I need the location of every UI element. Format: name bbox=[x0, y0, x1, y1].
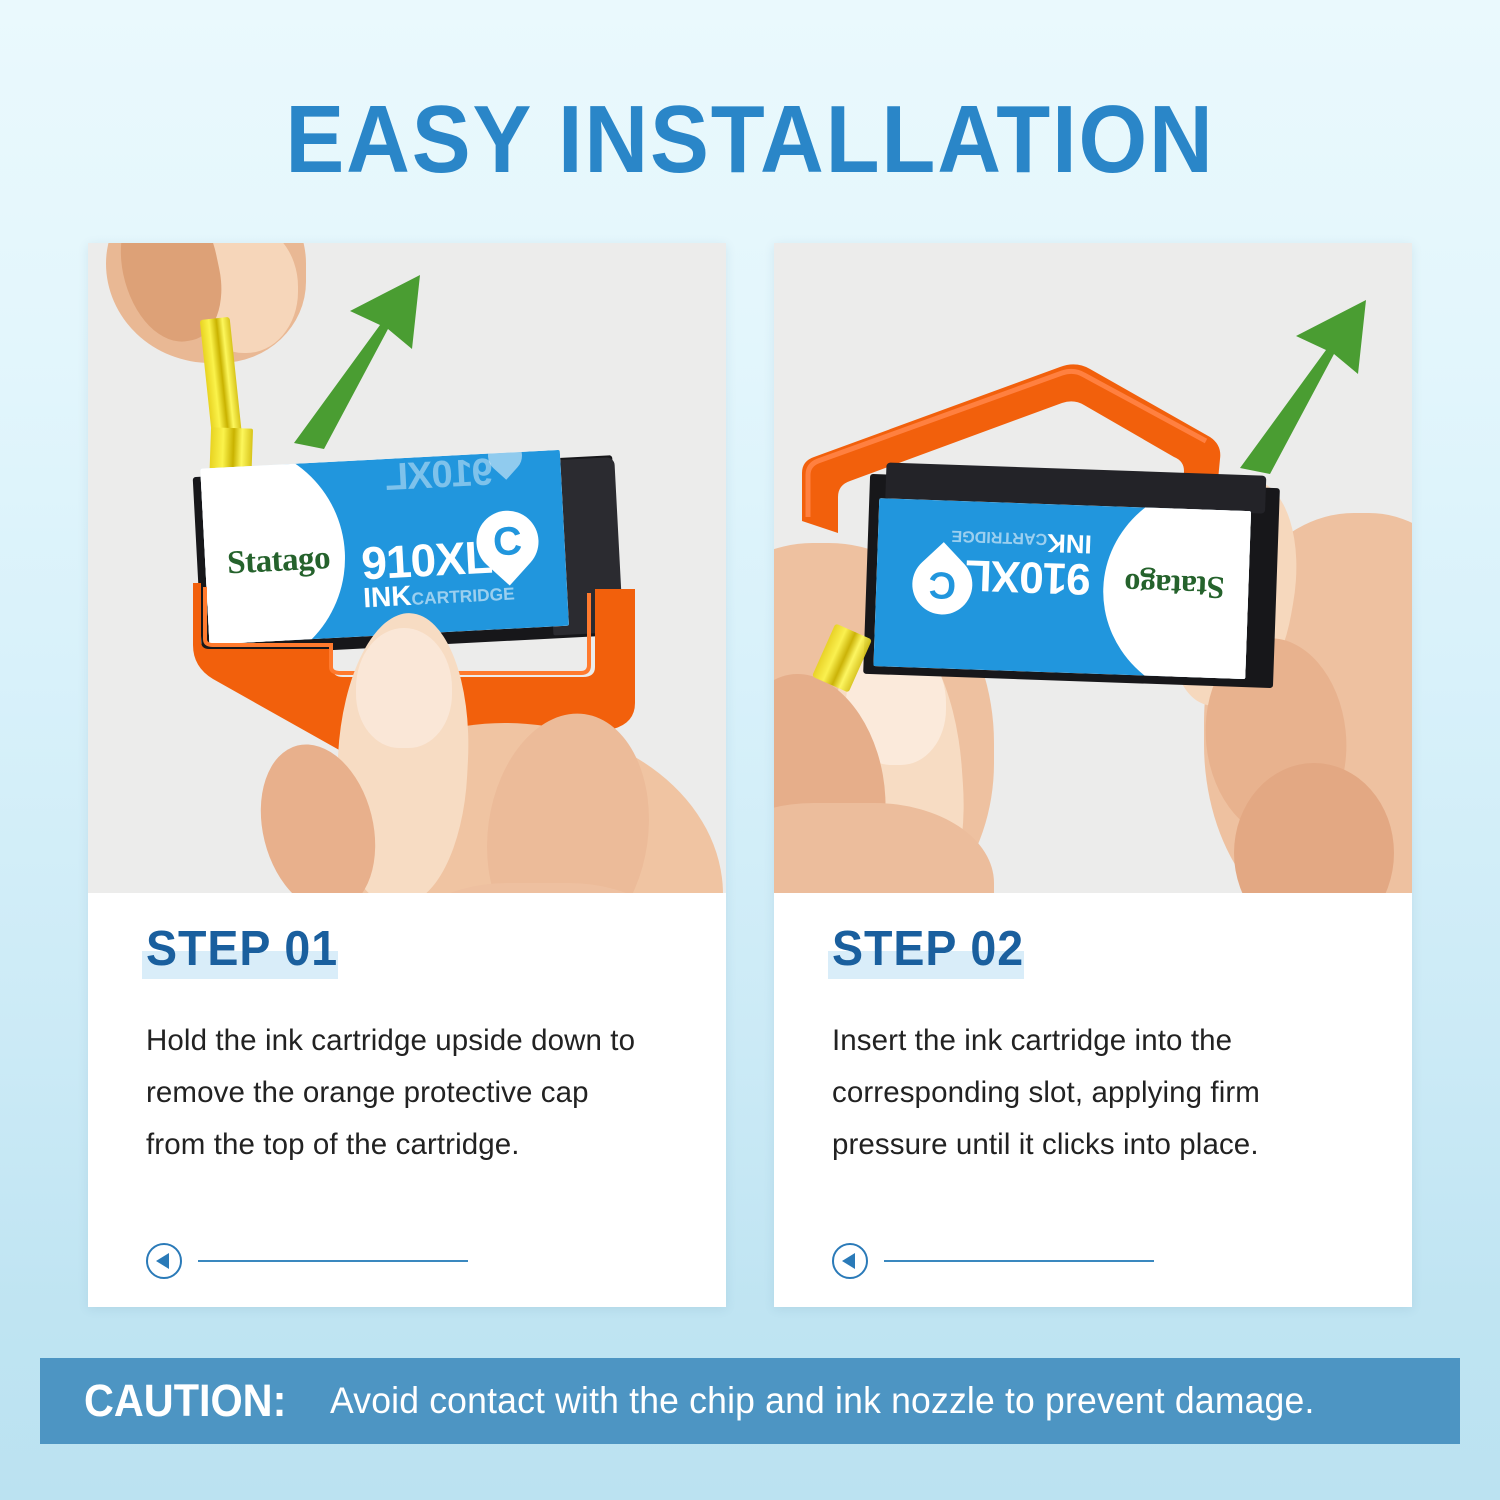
cartridge-ink-text: INK bbox=[1047, 528, 1093, 560]
caution-label: CAUTION: bbox=[84, 1375, 286, 1427]
steps-container: 910XL Statago 910XL INKCARTRIDGE C bbox=[88, 243, 1412, 1307]
ink-cartridge: Statago 910XL INKCARTRIDGE C bbox=[858, 474, 1286, 719]
step-label-wrap-02: STEP 02 bbox=[832, 925, 1034, 974]
step-photo-02: Statago 910XL INKCARTRIDGE C bbox=[774, 243, 1412, 893]
arrow-up-right-icon bbox=[288, 263, 428, 453]
page-title: EASY INSTALLATION bbox=[60, 92, 1440, 188]
cartridge-label: Statago 910XL INKCARTRIDGE C bbox=[873, 498, 1251, 679]
step-nav-01[interactable] bbox=[146, 1243, 468, 1279]
play-left-icon[interactable] bbox=[146, 1243, 182, 1279]
thumbnail bbox=[356, 628, 452, 748]
play-left-triangle bbox=[156, 1253, 169, 1269]
arrow-up-right-icon bbox=[1234, 288, 1374, 478]
cartridge-ink-label: INKCARTRIDGE bbox=[951, 524, 1093, 560]
cartridge-model-reflection: 910XL bbox=[385, 451, 494, 500]
step-label-wrap-01: STEP 01 bbox=[146, 925, 348, 974]
step-text-02: STEP 02 Insert the ink cartridge into th… bbox=[774, 893, 1412, 1307]
play-left-triangle bbox=[842, 1253, 855, 1269]
step-nav-02[interactable] bbox=[832, 1243, 1154, 1279]
cartridge-brand: Statago bbox=[226, 540, 331, 582]
step-body-02: Insert the ink cartridge into the corres… bbox=[832, 1015, 1332, 1171]
cartridge-color-code: C bbox=[475, 509, 540, 574]
step-label-01: STEP 01 bbox=[146, 925, 338, 974]
caution-message: Avoid contact with the chip and ink nozz… bbox=[330, 1380, 1315, 1422]
cartridge-brand: Statago bbox=[1124, 566, 1225, 606]
step-card-02: Statago 910XL INKCARTRIDGE C bbox=[774, 243, 1412, 1307]
step-card-01: 910XL Statago 910XL INKCARTRIDGE C bbox=[88, 243, 726, 1307]
step-photo-01: 910XL Statago 910XL INKCARTRIDGE C bbox=[88, 243, 726, 893]
step-text-01: STEP 01 Hold the ink cartridge upside do… bbox=[88, 893, 726, 1307]
nav-divider-line bbox=[884, 1260, 1154, 1262]
step-body-01: Hold the ink cartridge upside down to re… bbox=[146, 1015, 646, 1171]
cartridge-cartridge-text: CARTRIDGE bbox=[951, 527, 1047, 548]
cartridge-color-code: C bbox=[911, 553, 973, 615]
nav-divider-line bbox=[198, 1260, 468, 1262]
caution-banner: CAUTION: Avoid contact with the chip and… bbox=[40, 1358, 1460, 1444]
step-label-02: STEP 02 bbox=[832, 925, 1024, 974]
play-left-icon[interactable] bbox=[832, 1243, 868, 1279]
